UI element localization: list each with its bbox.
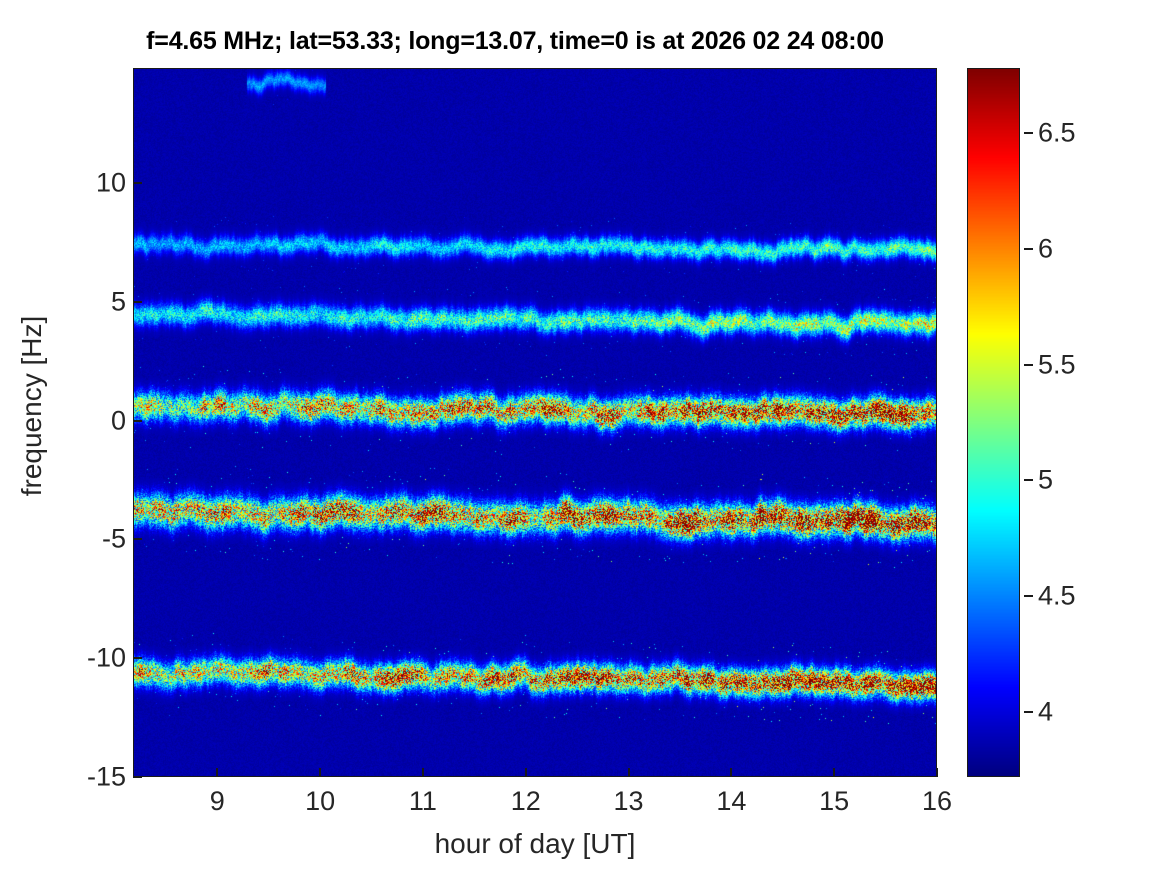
colorbar-ticks: 44.555.566.5: [1024, 0, 1144, 875]
y-tick-mark: [133, 420, 142, 422]
x-tick-mark: [833, 768, 835, 777]
x-tick-label: 12: [481, 786, 571, 817]
colorbar-tick-label: 4.5: [1038, 581, 1076, 612]
y-tick-label: 0: [56, 405, 126, 436]
y-tick-label: 5: [56, 286, 126, 317]
x-axis-ticks: 910111213141516: [0, 786, 1167, 826]
x-tick-label: 11: [378, 786, 468, 817]
x-tick-label: 13: [584, 786, 674, 817]
x-tick-label: 16: [892, 786, 982, 817]
y-tick-mark: [133, 776, 142, 778]
y-tick-label: -10: [56, 643, 126, 674]
figure-title: f=4.65 MHz; lat=53.33; long=13.07, time=…: [0, 27, 1030, 56]
x-tick-mark: [216, 768, 218, 777]
x-tick-label: 15: [789, 786, 879, 817]
x-tick-label: 9: [172, 786, 262, 817]
x-tick-label: 10: [275, 786, 365, 817]
y-axis-ticks: 1050-5-10-15: [40, 0, 126, 875]
spectrogram-image: [134, 69, 936, 776]
plot-area: [133, 68, 937, 777]
y-tick-mark: [133, 182, 142, 184]
colorbar-tick-mark: [1024, 711, 1033, 713]
x-tick-mark: [936, 768, 938, 777]
colorbar-gradient: [968, 69, 1019, 776]
x-tick-mark: [319, 768, 321, 777]
y-tick-label: 10: [56, 167, 126, 198]
x-tick-label: 14: [686, 786, 776, 817]
y-tick-mark: [133, 538, 142, 540]
spectrogram-figure: f=4.65 MHz; lat=53.33; long=13.07, time=…: [0, 0, 1167, 875]
colorbar-tick-label: 6: [1038, 233, 1053, 264]
colorbar-tick-mark: [1024, 248, 1033, 250]
y-tick-label: -5: [56, 524, 126, 555]
colorbar: [967, 68, 1020, 777]
colorbar-tick-label: 5: [1038, 465, 1053, 496]
x-tick-mark: [628, 768, 630, 777]
colorbar-tick-label: 5.5: [1038, 349, 1076, 380]
colorbar-tick-mark: [1024, 364, 1033, 366]
colorbar-tick-mark: [1024, 595, 1033, 597]
x-axis-label: hour of day [UT]: [133, 828, 937, 860]
y-axis-label: frequency [Hz]: [16, 306, 48, 506]
colorbar-tick-mark: [1024, 479, 1033, 481]
x-tick-mark: [525, 768, 527, 777]
colorbar-tick-label: 6.5: [1038, 117, 1076, 148]
x-tick-mark: [422, 768, 424, 777]
y-tick-mark: [133, 657, 142, 659]
y-tick-mark: [133, 301, 142, 303]
x-tick-mark: [730, 768, 732, 777]
colorbar-tick-mark: [1024, 132, 1033, 134]
colorbar-tick-label: 4: [1038, 697, 1053, 728]
